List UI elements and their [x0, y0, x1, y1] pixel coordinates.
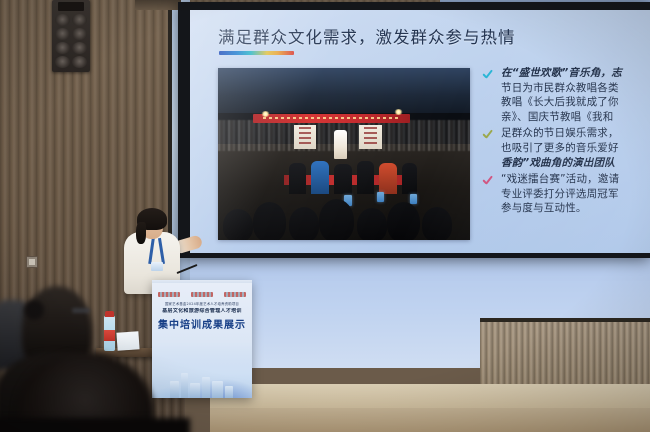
slide-photo [218, 68, 470, 240]
photo-silhouette [311, 161, 329, 194]
lectern-headline: 集中培训成果展示 [156, 319, 248, 332]
photo-silhouette [334, 164, 352, 193]
photo-silhouette [402, 163, 417, 194]
check-mark-icon [482, 174, 497, 189]
photo-performer [334, 130, 347, 159]
bullet-text: 足群众的节日娱乐需求， 也吸引了更多的音乐爱好 香韵”戏曲角的演出团队 [501, 126, 619, 170]
speaker-array-icon [52, 0, 90, 72]
bullet-line: 足群众的节日娱乐需求， [501, 126, 619, 141]
slide-title: 满足群众文化需求，激发群众参与热情 [218, 24, 516, 48]
bullet-line: 亲》、国庆节教唱《我和 [501, 110, 622, 125]
slide-bullet-list: 在“盛世欢歌”音乐角，志 节日为市民群众教唱各类 教唱《长大后我就成了你 亲》、… [482, 66, 650, 218]
bullet-line: “戏迷擂台赛”活动，邀请 [501, 172, 619, 187]
bullet-line: 香韵”戏曲角的演出团队 [501, 157, 615, 169]
photo-silhouette [357, 161, 375, 194]
presenter-hair [136, 222, 146, 244]
bullet-line: 在“盛世欢歌”音乐角，志 [501, 67, 622, 79]
photo-foreground-audience [218, 194, 470, 240]
wall-vent [135, 0, 181, 10]
bullet-text: “戏迷擂台赛”活动，邀请 专业评委打分评选周冠军 参与度与互动性。 [501, 172, 619, 216]
bullet-line: 教唱《长大后我就成了你 [501, 95, 622, 110]
lectern-artwork [152, 342, 252, 398]
side-table-leg [106, 357, 112, 397]
water-bottle-cap [105, 311, 114, 317]
photo-silhouette [379, 163, 397, 194]
lectern-logo-row [158, 291, 246, 298]
photo-stage-light-left [261, 111, 270, 117]
photo-banner-panel-left [294, 125, 317, 149]
paper-card [116, 331, 139, 350]
lectern-small-line: 国家艺术基金2024年度艺术人才培养资助项目 [157, 302, 247, 307]
bullet-line: 专业评委打分评选周冠军 [501, 187, 619, 202]
bullet-text: 在“盛世欢歌”音乐角，志 节日为市民群众教唱各类 教唱《长大后我就成了你 亲》、… [501, 66, 622, 124]
photo-night-sky [218, 68, 470, 113]
lectern: 国家艺术基金2024年度艺术人才培养资助项目 基层文化和旅游综合管理人才培训 集… [152, 280, 252, 398]
photo-silhouette [289, 163, 307, 194]
bullet-item: 在“盛世欢歌”音乐角，志 节日为市民群众教唱各类 教唱《长大后我就成了你 亲》、… [482, 66, 650, 124]
check-mark-icon [482, 128, 497, 143]
speaker-slot [58, 2, 84, 11]
bullet-item: “戏迷擂台赛”活动，邀请 专业评委打分评选周冠军 参与度与互动性。 [482, 172, 650, 216]
screenshot-root: 满足群众文化需求，激发群众参与热情 [0, 0, 650, 432]
sponsor-logo-right [224, 292, 246, 297]
photo-banner-panel-right [359, 125, 382, 149]
slide-title-accent-rule [219, 51, 294, 55]
projection-screen: 满足群众文化需求，激发群众参与热情 [190, 10, 650, 253]
wall-light-switch[interactable] [26, 256, 38, 268]
wall-slat-wainscot [480, 318, 650, 390]
photo-red-banner [253, 114, 409, 123]
bullet-line: 节日为市民群众教唱各类 [501, 81, 622, 96]
sponsor-logo-center [191, 292, 213, 297]
stage-floor-front-edge [210, 408, 650, 432]
check-mark-icon [482, 68, 497, 83]
lectern-subtitle: 基层文化和旅游综合管理人才培训 [157, 308, 247, 315]
lectern-top [152, 280, 252, 283]
bullet-line: 也吸引了更多的音乐爱好 [501, 141, 619, 156]
presenter-badge [151, 262, 163, 271]
sponsor-logo-left [158, 292, 180, 297]
speaker-driver-grid [55, 14, 87, 68]
bullet-item: 足群众的节日娱乐需求， 也吸引了更多的音乐爱好 香韵”戏曲角的演出团队 [482, 126, 650, 170]
water-bottle-label [104, 330, 115, 341]
bullet-line: 参与度与互动性。 [501, 201, 619, 216]
